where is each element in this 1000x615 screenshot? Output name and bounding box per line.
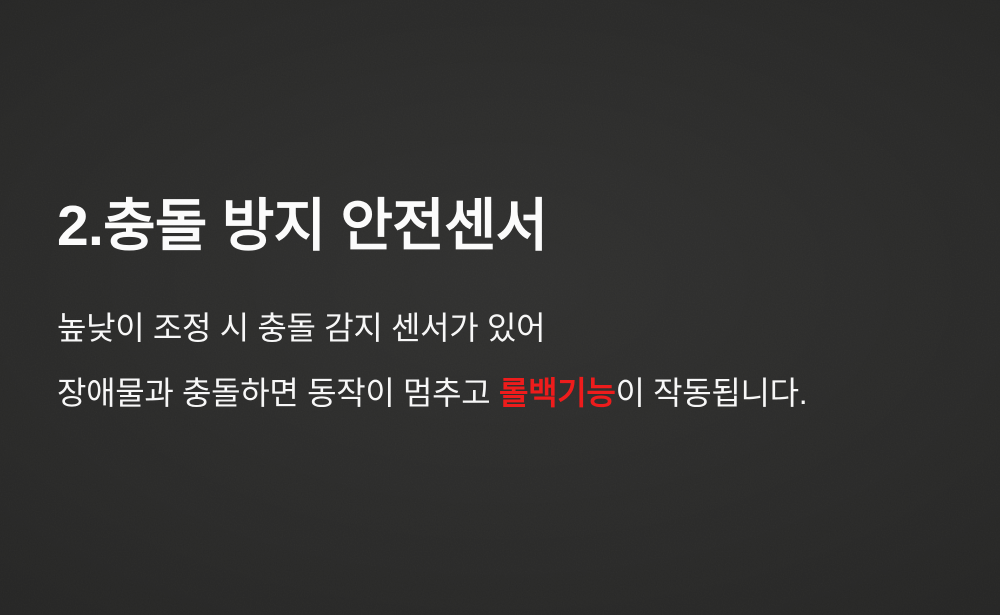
description-line-2-prefix: 장애물과 충돌하면 동작이 멈추고: [57, 375, 499, 411]
description-line-2-suffix: 이 작동됩니다.: [615, 375, 807, 411]
promo-slide: 2.충돌 방지 안전센서 높낮이 조정 시 충돌 감지 센서가 있어 장애물과 …: [0, 0, 1000, 615]
description-line-2: 장애물과 충돌하면 동작이 멈추고 롤백기능이 작동됩니다.: [57, 377, 957, 409]
rollback-feature-highlight: 롤백기능: [499, 375, 615, 411]
description-line-1: 높낮이 조정 시 충돌 감지 센서가 있어: [57, 312, 957, 344]
description-block: 높낮이 조정 시 충돌 감지 센서가 있어 장애물과 충돌하면 동작이 멈추고 …: [57, 312, 957, 409]
page-title: 2.충돌 방지 안전센서: [57, 196, 548, 256]
slide-content: 2.충돌 방지 안전센서 높낮이 조정 시 충돌 감지 센서가 있어 장애물과 …: [57, 0, 957, 615]
